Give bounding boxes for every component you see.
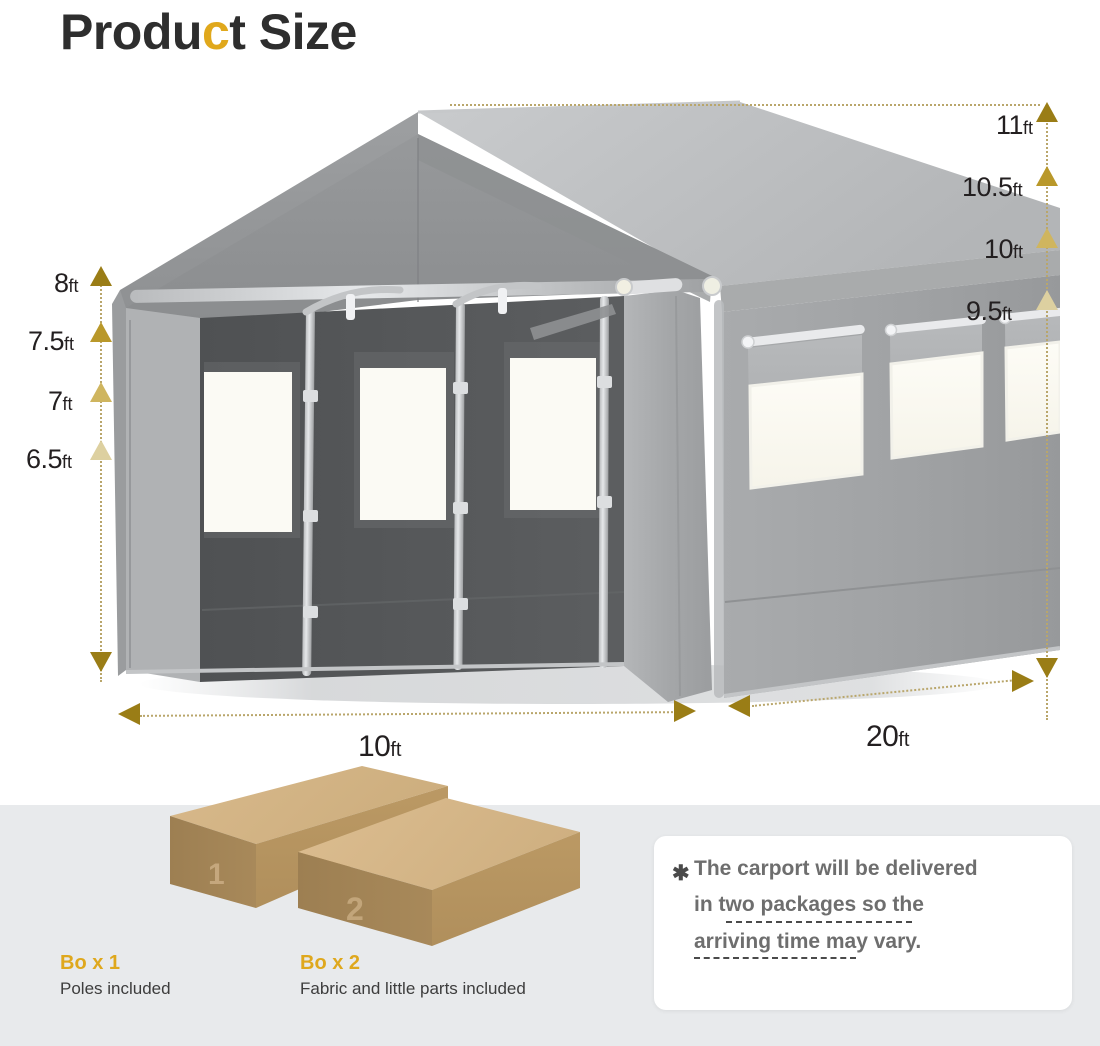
dimension-label-7ft: 7ft: [48, 386, 73, 417]
note-asterisk-icon: ✱: [672, 858, 694, 884]
dimension-value: 10: [358, 730, 390, 763]
width-arrow-end: [674, 700, 696, 722]
dimension-label-10ft: 10ft: [984, 234, 1023, 265]
interior-window-3: [504, 342, 604, 518]
product-photo-area: 11ft 10.5ft 10ft 9.5ft 8ft 7.5ft 7ft 6.5…: [0, 80, 1100, 800]
dimension-arrow-10ft: [1036, 228, 1058, 248]
dimension-arrow-11ft: [1036, 102, 1058, 122]
dimension-value: 10: [984, 234, 1013, 264]
note-text-block: The carport will be delivered in two pac…: [694, 858, 1052, 967]
interior-window-2: [354, 352, 454, 528]
package-2-title: Bo x 2: [300, 952, 526, 975]
note-line-3: arriving time may vary.: [694, 931, 1052, 967]
dimension-unit: ft: [69, 276, 79, 296]
note-line-2: in two packages so the: [694, 894, 1052, 930]
dimension-arrow-10_5ft: [1036, 166, 1058, 186]
dimension-unit: ft: [1002, 304, 1012, 324]
dimension-label-10_5ft: 10.5ft: [962, 172, 1023, 203]
dimension-arrow-left-bottom: [90, 652, 112, 672]
right-dimension-line: [1046, 108, 1048, 720]
left-end-panel: [126, 308, 200, 682]
dimension-label-9_5ft: 9.5ft: [966, 296, 1012, 327]
dimension-arrow-9_5ft: [1036, 290, 1058, 310]
page-title-accent-letter: c: [202, 4, 229, 60]
product-size-infographic: Product Size: [0, 0, 1100, 1046]
dimension-value: 7.5: [28, 326, 64, 356]
left-edge-wall: [112, 290, 126, 676]
dimension-unit: ft: [898, 729, 909, 751]
width-dimension-line: [140, 711, 680, 717]
boxes-svg: 1 2: [60, 760, 640, 950]
dimension-label-width-10ft: 10ft: [358, 730, 402, 764]
dimension-value: 10.5: [962, 172, 1013, 202]
flap-roll-cap: [616, 279, 632, 295]
package-2-subtitle: Fabric and little parts included: [300, 979, 526, 999]
dimension-unit: ft: [1013, 242, 1023, 262]
delivery-note-card: ✱ The carport will be delivered in two p…: [654, 836, 1072, 1010]
length-arrow-end: [1012, 670, 1034, 692]
page-title: Product Size: [60, 4, 357, 62]
side-window-1: [742, 324, 865, 488]
dimension-label-7_5ft: 7.5ft: [28, 326, 74, 357]
carport-svg: [100, 90, 1060, 710]
package-number-2: 2: [346, 891, 364, 927]
dimension-label-11ft: 11ft: [996, 110, 1033, 141]
side-window-3: [1000, 308, 1061, 440]
dimension-value: 11: [996, 110, 1023, 140]
dimension-unit: ft: [62, 452, 72, 472]
dimension-arrow-7_5ft: [90, 322, 112, 342]
side-window-2: [886, 316, 987, 458]
page-title-post: t Size: [229, 4, 357, 60]
corner-pole: [714, 300, 724, 698]
dimension-arrow-8ft: [90, 266, 112, 286]
dimension-unit: ft: [1023, 118, 1033, 138]
package-1-title: Bo x 1: [60, 952, 171, 975]
dimension-unit: ft: [1013, 180, 1023, 200]
dimension-arrow-6_5ft: [90, 440, 112, 460]
package-1-caption: Bo x 1 Poles included: [60, 952, 171, 999]
length-arrow-start: [728, 695, 750, 717]
packages-illustration: 1 2: [60, 760, 640, 950]
dimension-value: 20: [866, 720, 898, 753]
package-number-1: 1: [208, 858, 225, 891]
dimension-value: 6.5: [26, 444, 62, 474]
dimension-unit: ft: [64, 334, 74, 354]
package-2-caption: Bo x 2 Fabric and little parts included: [300, 952, 526, 999]
dimension-value: 8: [54, 268, 69, 298]
dimension-label-length-20ft: 20ft: [866, 720, 910, 754]
width-arrow-start: [118, 703, 140, 725]
dimension-value: 9.5: [966, 296, 1002, 326]
dimension-arrow-7ft: [90, 382, 112, 402]
interior-window-1: [204, 362, 300, 538]
eave-tube-cap: [703, 277, 721, 295]
dimension-label-6_5ft: 6.5ft: [26, 444, 72, 475]
dimension-arrow-right-bottom: [1036, 658, 1058, 678]
package-1-subtitle: Poles included: [60, 979, 171, 999]
dimension-value: 7: [48, 386, 63, 416]
front-door-flap: [624, 290, 712, 702]
carport-illustration: [100, 90, 1060, 710]
top-guide-dotline: [450, 104, 1040, 106]
dimension-unit: ft: [390, 739, 401, 761]
dimension-label-8ft: 8ft: [54, 268, 79, 299]
note-line-1: The carport will be delivered: [694, 858, 1052, 894]
dimension-unit: ft: [63, 394, 73, 414]
page-title-pre: Produ: [60, 4, 202, 60]
